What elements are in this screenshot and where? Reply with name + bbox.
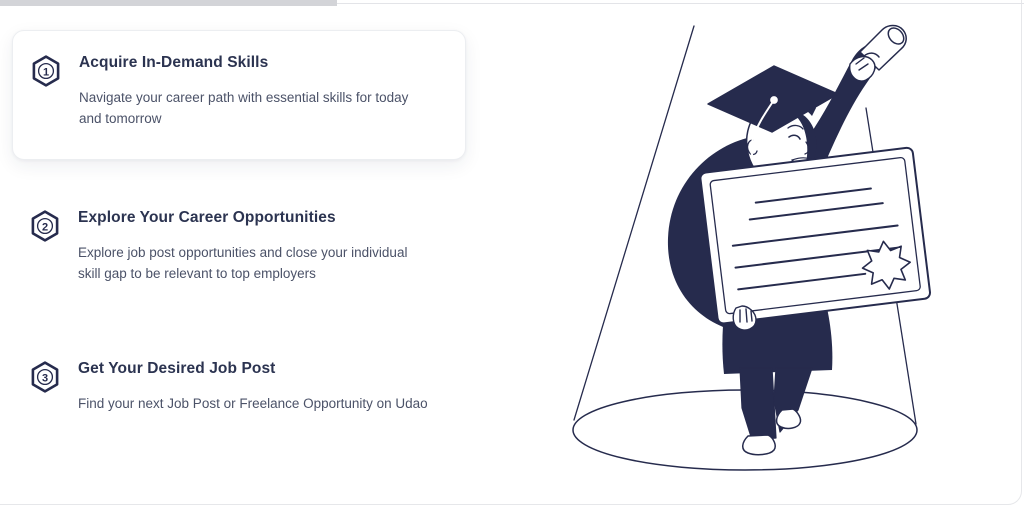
step-item-3[interactable]: 3 Get Your Desired Job Post Find your ne… [12, 337, 466, 440]
step-number-text-1: 1 [43, 66, 49, 78]
step-content-3: Get Your Desired Job Post Find your next… [78, 359, 442, 414]
steps-list: 1 Acquire In-Demand Skills Navigate your… [0, 0, 500, 507]
step-item-1[interactable]: 1 Acquire In-Demand Skills Navigate your… [12, 30, 466, 160]
step-description-3: Find your next Job Post or Freelance Opp… [78, 393, 442, 414]
step-content-1: Acquire In-Demand Skills Navigate your c… [79, 53, 441, 129]
onboarding-steps-panel: 1 Acquire In-Demand Skills Navigate your… [0, 0, 1024, 507]
step-description-2: Explore job post opportunities and close… [78, 242, 430, 284]
graduate-with-diploma-illustration [560, 8, 1000, 488]
step-item-2[interactable]: 2 Explore Your Career Opportunities Expl… [12, 186, 466, 310]
step-description-1: Navigate your career path with essential… [79, 87, 431, 129]
step-title-2: Explore Your Career Opportunities [78, 208, 442, 228]
step-title-3: Get Your Desired Job Post [78, 359, 442, 379]
step-number-badge-2: 2 [30, 210, 60, 242]
step-number-text-2: 2 [42, 221, 48, 233]
step-number-badge-3: 3 [30, 361, 60, 393]
step-number-badge-1: 1 [31, 55, 61, 87]
step-content-2: Explore Your Career Opportunities Explor… [78, 208, 442, 284]
step-number-text-3: 3 [42, 372, 48, 384]
step-title-1: Acquire In-Demand Skills [79, 53, 441, 73]
